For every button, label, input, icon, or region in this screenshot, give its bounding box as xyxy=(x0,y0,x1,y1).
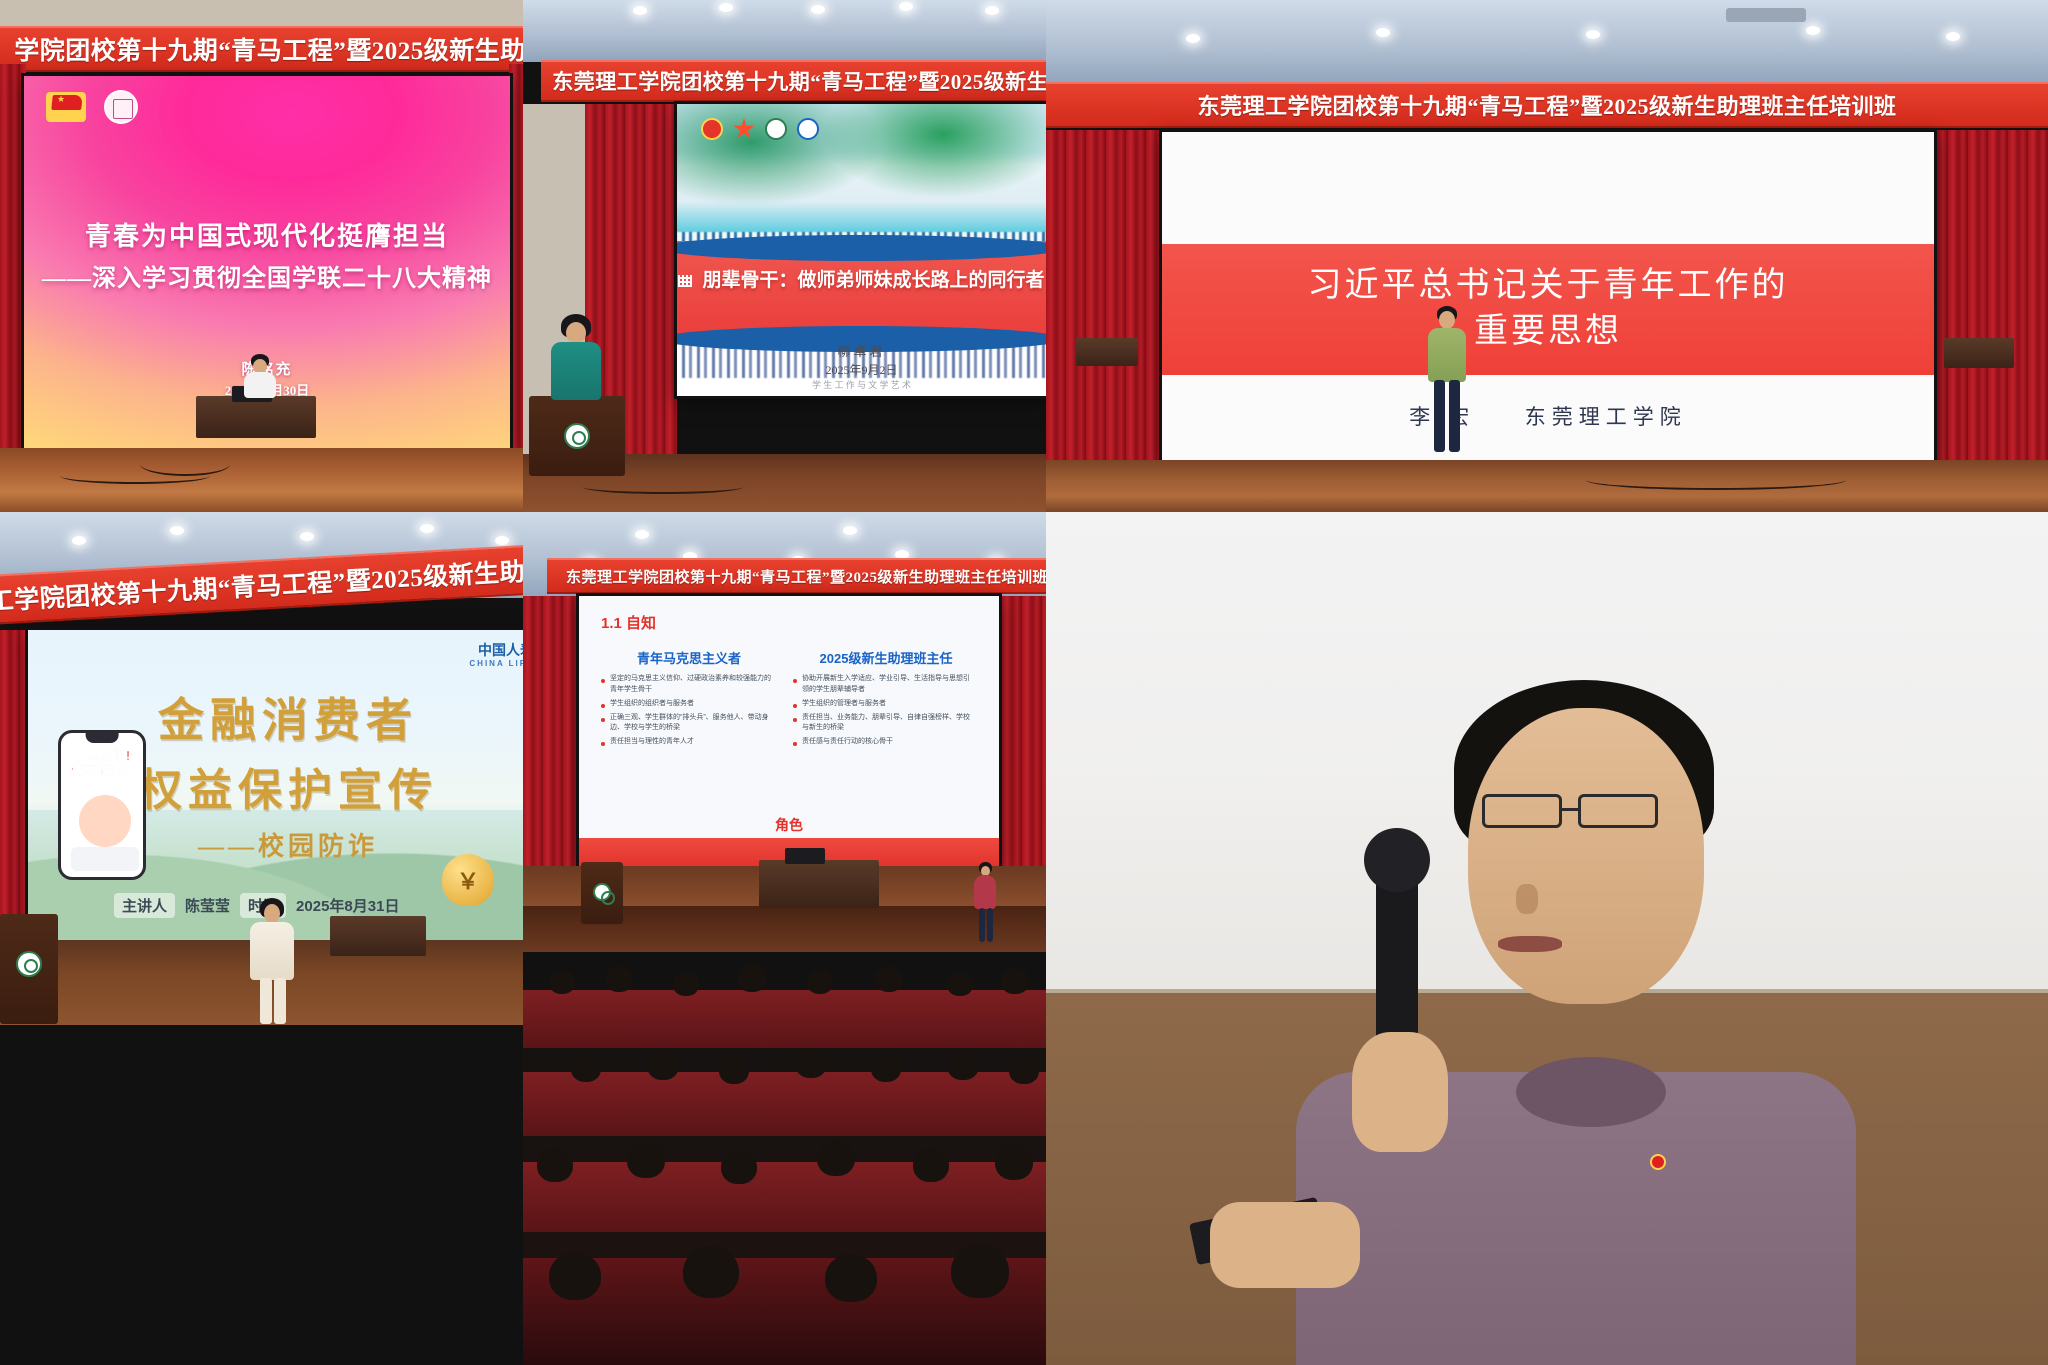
presenter-desk-5 xyxy=(759,860,879,908)
list-item: 学生组织的组织者与服务者 xyxy=(601,699,773,710)
column-bullets-right-5: 协助开展新生入学适应、学业引导、生活指导与思想引领的学生朋辈辅导者 学生组织的管… xyxy=(793,674,973,751)
panel-top-left: 学院团校第十九期“青马工程”暨2025级新生助 青春为中国式现代化挺膺担当 ——… xyxy=(0,0,523,512)
column-heading-right-5: 2025级新生助理班主任 xyxy=(791,648,981,667)
section-number: 1.1 xyxy=(601,615,622,632)
hand-holding-microphone xyxy=(1352,1032,1448,1152)
laptop-5 xyxy=(785,848,825,864)
presentation-screen-3: 习近平总书记关于青年工作的 重要思想 李 宏 东莞理工学院 xyxy=(1162,132,1934,460)
slide-affiliation-3: 东莞理工学院 xyxy=(1525,406,1687,429)
speaker-2 xyxy=(543,314,607,400)
red-star-icon xyxy=(733,118,755,140)
presenter-desk-1 xyxy=(196,396,316,438)
university-seal-icon xyxy=(104,90,138,124)
panel-top-middle: 东莞理工学院团校第十九期“青马工程”暨2025级新生助 朋辈骨干：做师弟师妹成长… xyxy=(523,0,1046,512)
side-table-3b xyxy=(1944,338,2014,368)
hand-holding-phone xyxy=(1210,1202,1360,1288)
slide-title-3-line1: 习近平总书记关于青年工作的 xyxy=(1308,263,1789,309)
money-bag-icon: ￥ xyxy=(442,854,494,906)
audience-area-5 xyxy=(523,952,1046,1365)
banner-text: 学院团校第十九期“青马工程”暨2025级新生助 xyxy=(14,31,523,67)
list-item: 正确三观、学生群体的“排头兵”、服务他人、带动身边、学校与学生的桥梁 xyxy=(601,713,773,735)
phone-badge-line1: 擦亮双眼! xyxy=(65,749,139,764)
presentation-screen-5: 1.1 自知 青年马克思主义者 2025级新生助理班主任 坚定的马克思主义信仰、… xyxy=(579,596,999,866)
slide-date-4: 2025年8月31日 xyxy=(296,895,399,916)
speaker-3 xyxy=(1424,306,1470,458)
stage-curtain-3-left xyxy=(1046,130,1166,460)
speaker-label-4: 主讲人 xyxy=(114,893,175,918)
microphone-head xyxy=(1364,828,1430,892)
microphone xyxy=(1376,864,1418,1054)
slide-date-2: 2025年9月2日 xyxy=(677,361,1046,378)
column-heading-left-5: 青年马克思主义者 xyxy=(599,648,779,667)
slide-title-3-line2: 重要思想 xyxy=(1308,309,1789,355)
list-item: 责任担当与理性的青年人才 xyxy=(601,737,773,748)
banner-text: 东莞理工学院团校第十九期“青马工程”暨2025级新生助理班主任培训班 xyxy=(566,566,1046,587)
banner-text: 东莞理工学院团校第十九期“青马工程”暨2025级新生助 xyxy=(552,66,1046,96)
photo-collage: 学院团校第十九期“青马工程”暨2025级新生助 青春为中国式现代化挺膺担当 ——… xyxy=(0,0,2048,1365)
youth-league-pin-icon xyxy=(1650,1154,1666,1170)
glasses-icon xyxy=(1482,794,1562,828)
banner-text: 东莞理工学院团校第十九期“青马工程”暨2025级新生助理班主任培训班 xyxy=(1197,89,1896,121)
slide-speaker-2: 柳卓君 xyxy=(677,341,1046,360)
university-emblem-icon xyxy=(564,423,590,449)
speaker-name-4: 陈莹莹 xyxy=(185,895,230,916)
section-title: 自知 xyxy=(626,615,656,632)
list-item: 责任担当、业务能力、朋辈引导、自律自强榜样、学校与新生的桥梁 xyxy=(793,713,973,735)
panel-top-right: 东莞理工学院团校第十九期“青马工程”暨2025级新生助理班主任培训班 习近平总书… xyxy=(1046,0,2048,512)
panel-bottom-right xyxy=(1046,512,2048,1365)
slide-section-5: 1.1 自知 xyxy=(601,612,656,633)
slide-title-2: 朋辈骨干：做师弟师妹成长路上的同行者 xyxy=(677,265,1046,292)
slide-title-3: 习近平总书记关于青年工作的 重要思想 xyxy=(1308,263,1789,355)
collar xyxy=(1516,1057,1666,1127)
event-banner-3: 东莞理工学院团校第十九期“青马工程”暨2025级新生助理班主任培训班 xyxy=(1046,82,2048,128)
event-banner-2: 东莞理工学院团校第十九期“青马工程”暨2025级新生助 xyxy=(541,60,1046,102)
column-bullets-left-5: 坚定的马克思主义信仰、过硬政治素养和较强能力的青年学生骨干 学生组织的组织者与服… xyxy=(601,674,773,751)
event-banner-1: 学院团校第十九期“青马工程”暨2025级新生助 xyxy=(0,26,523,72)
standing-attendant-5 xyxy=(971,862,999,942)
event-banner-5: 东莞理工学院团校第十九期“青马工程”暨2025级新生助理班主任培训班 xyxy=(547,558,1046,594)
seated-speaker-1 xyxy=(240,354,280,398)
slide-title-1: 青春为中国式现代化挺膺担当 xyxy=(24,216,510,253)
presentation-screen-4: 中国人寿 CHINA LIFE 金融消费者 权益保护宣传 ——校园防诈 擦亮双眼… xyxy=(28,630,523,940)
slide-footer-label-5: 角色 xyxy=(775,815,803,835)
slide-logos-2 xyxy=(701,118,819,140)
podium-2 xyxy=(529,396,625,476)
list-item: 责任感与责任行动的核心骨干 xyxy=(793,737,973,748)
phone-graphic-4: 擦亮双眼! 校园防诈扫 xyxy=(58,730,146,880)
slide-byline-3: 李 宏 东莞理工学院 xyxy=(1162,401,1934,431)
podium-4 xyxy=(0,914,58,1024)
list-item: 坚定的马克思主义信仰、过硬政治素养和较强能力的青年学生骨干 xyxy=(601,674,773,696)
university-emblem-icon xyxy=(765,118,787,140)
presentation-screen-2: 朋辈骨干：做师弟师妹成长路上的同行者 柳卓君 2025年9月2日 学 生 工 作… xyxy=(677,104,1046,396)
podium-5 xyxy=(581,862,623,924)
university-emblem-icon xyxy=(593,883,611,901)
circle-emblem-icon xyxy=(797,118,819,140)
slide-subtitle-1: ——深入学习贯彻全国学联二十八大精神 xyxy=(24,258,510,293)
side-table-4 xyxy=(330,916,426,956)
slide-org-2: 学 生 工 作 与 文 学 艺 术 xyxy=(677,378,1046,391)
face xyxy=(1468,708,1704,1004)
stage-curtain-3-right xyxy=(1928,130,2048,460)
university-emblem-icon xyxy=(16,951,42,977)
youth-league-flag-icon xyxy=(701,118,723,140)
side-table-3 xyxy=(1076,338,1138,366)
glasses-icon-right xyxy=(1578,794,1658,828)
speaker-4 xyxy=(244,898,300,1024)
brand-logo-4: 中国人寿 CHINA LIFE xyxy=(469,642,523,668)
portrait-speaker-6 xyxy=(1046,512,2048,1365)
panel-bottom-left: 理工学院团校第十九期“青马工程”暨2025级新生助理班 中国人寿 CHINA L… xyxy=(0,512,523,1365)
list-item: 协助开展新生入学适应、学业引导、生活指导与思想引领的学生朋辈辅导者 xyxy=(793,674,973,696)
grid-bullet-icon xyxy=(678,275,692,287)
list-item: 学生组织的管理者与服务者 xyxy=(793,699,973,710)
panel-bottom-middle: 东莞理工学院团校第十九期“青马工程”暨2025级新生助理班主任培训班 1.1 自… xyxy=(523,512,1046,1365)
youth-league-flag-icon xyxy=(46,92,86,122)
brand-name-en: CHINA LIFE xyxy=(469,659,523,669)
brand-name-cn: 中国人寿 xyxy=(469,642,523,659)
phone-badge-line2: 校园防诈扫 xyxy=(65,764,139,779)
